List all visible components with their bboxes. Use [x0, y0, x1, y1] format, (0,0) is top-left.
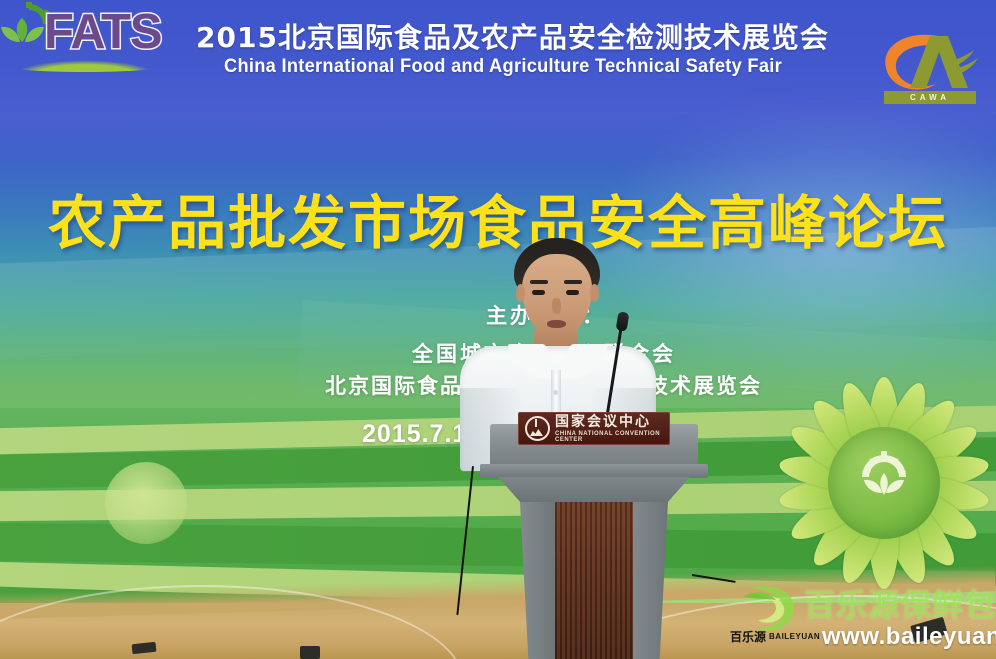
- fats-logo: FATS: [0, 2, 176, 98]
- podium-side-left: [520, 502, 558, 659]
- cawa-wordmark: CAWA: [910, 93, 950, 102]
- sunflower-emblem: [776, 378, 992, 588]
- header-title-cn: 2015北京国际食品及农产品安全检测技术展览会: [196, 16, 856, 56]
- speaker-ear: [590, 284, 599, 302]
- plaque-title-cn: 国家会议中心: [555, 415, 663, 429]
- header-title-en: China International Food and Agriculture…: [224, 56, 819, 78]
- podium-plaque: 国家会议中心 CHINA NATIONAL CONVENTION CENTER: [518, 412, 670, 445]
- watermark-badge: 百乐源 BAILEYUAN: [730, 628, 820, 645]
- backdrop-soft-circle: [105, 462, 187, 544]
- speaker-ear: [516, 284, 525, 302]
- speaker-brow: [564, 280, 582, 284]
- mountain-star-icon: [525, 416, 550, 441]
- podium-side-right: [630, 502, 668, 659]
- podium-lip: [480, 464, 708, 478]
- podium: 国家会议中心 CHINA NATIONAL CONVENTION CENTER: [470, 424, 718, 659]
- podium-bevel: [498, 477, 690, 503]
- speaker-eye: [566, 290, 579, 295]
- watermark-badge-en: BAILEYUAN: [769, 632, 820, 641]
- speaker-brow: [530, 280, 548, 284]
- fats-wordmark: FATS: [44, 8, 162, 57]
- watermark-url: www.baileyuan.cn: [822, 623, 996, 651]
- speaker-nose: [552, 298, 561, 314]
- floor-object: [300, 646, 320, 659]
- watermark-badge-cn: 百乐源: [730, 628, 766, 645]
- speaker-mouth: [547, 320, 566, 328]
- fats-swoosh: [2, 58, 168, 72]
- cawa-bar: CAWA: [884, 91, 976, 104]
- plaque-title-en: CHINA NATIONAL CONVENTION CENTER: [555, 431, 663, 443]
- speaker-eye: [532, 290, 545, 295]
- podium-wood-panel: [555, 502, 633, 659]
- watermark: 百乐源保鲜包装 百乐源 BAILEYUAN www.baileyuan.cn: [716, 578, 996, 656]
- gear-plant-icon: [856, 449, 912, 505]
- watermark-brand: 百乐源保鲜包装: [804, 580, 996, 625]
- cawa-logo: CAWA: [874, 26, 984, 114]
- event-photo-scene: FATS CAWA 2015北京国际食品及农产品安全检测技术展览会 China …: [0, 0, 996, 659]
